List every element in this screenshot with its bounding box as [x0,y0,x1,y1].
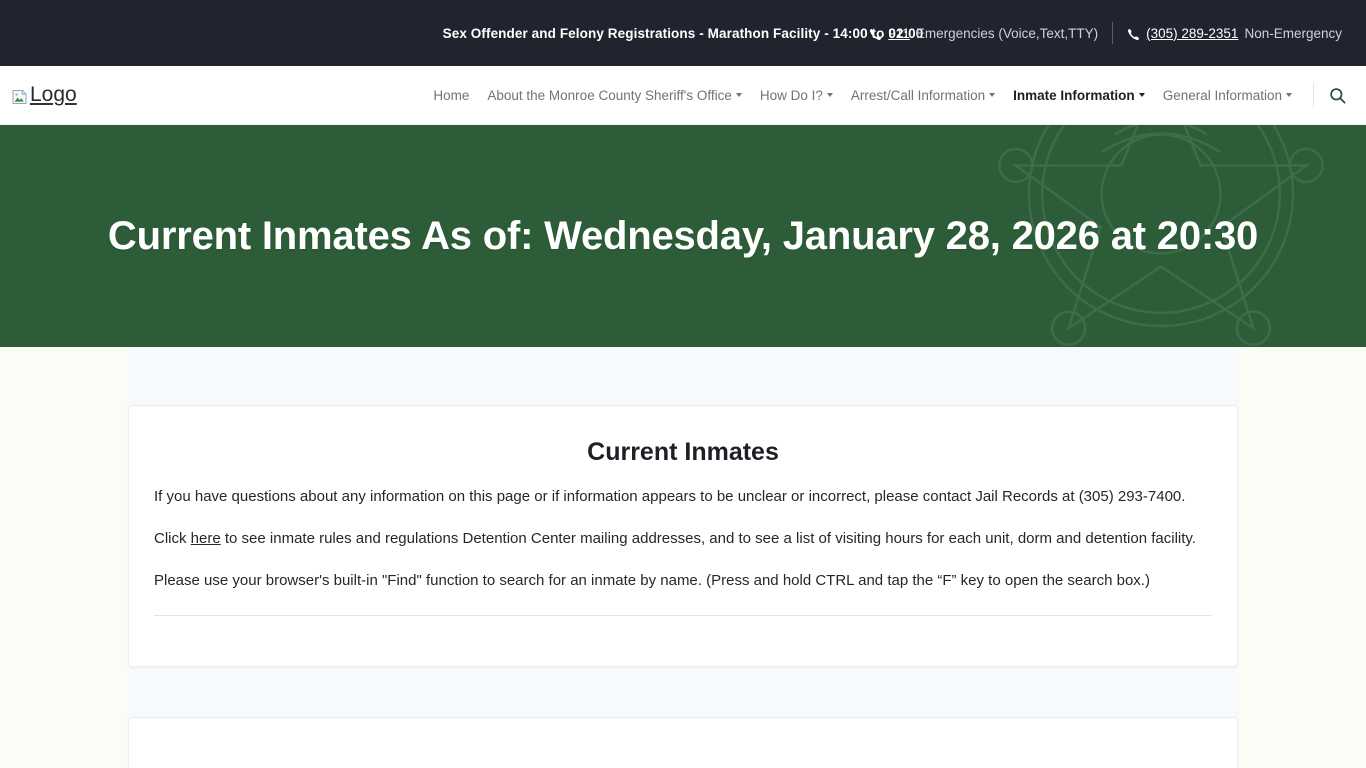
chevron-down-icon [1139,93,1145,97]
page-title: Current Inmates As of: Wednesday, Januar… [68,214,1298,259]
nav-label: Inmate Information [1013,88,1135,103]
inmate-roster-card [128,717,1238,768]
broken-image-icon [12,89,28,105]
nav-item-about[interactable]: About the Monroe County Sheriff's Office [478,82,750,109]
main-navigation: Logo Home About the Monroe County Sherif… [0,66,1366,125]
page-hero: Current Inmates As of: Wednesday, Januar… [0,125,1366,347]
search-icon[interactable] [1324,82,1350,108]
emergency-phone-group[interactable]: 911 Emergencies (Voice,Text,TTY) [869,26,1098,41]
info-paragraph-find: Please use your browser's built-in "Find… [154,569,1212,593]
nav-item-general-information[interactable]: General Information [1154,82,1301,109]
nav-label: Arrest/Call Information [851,88,985,103]
nonemergency-phone-group[interactable]: (305) 289-2351 Non-Emergency [1127,26,1342,41]
nav-item-arrest-call-information[interactable]: Arrest/Call Information [842,82,1004,109]
rules-text-before: Click [154,530,191,547]
nav-item-how-do-i[interactable]: How Do I? [751,82,842,109]
page-body: Current Inmates If you have questions ab… [0,347,1366,768]
nav-divider [1313,83,1314,107]
nav-label: General Information [1163,88,1282,103]
rules-text-after: to see inmate rules and regulations Dete… [221,530,1196,547]
info-paragraph-rules: Click here to see inmate rules and regul… [154,527,1212,551]
emergency-phone-link[interactable]: 911 [888,26,910,41]
card-divider [154,615,1212,616]
inmate-rules-link[interactable]: here [191,530,221,547]
search-glass-icon [1328,86,1347,105]
chevron-down-icon [1286,93,1292,97]
nonemergency-phone-label: Non-Emergency [1244,26,1342,41]
nonemergency-phone-link[interactable]: (305) 289-2351 [1146,26,1238,41]
content-container: Current Inmates If you have questions ab… [128,347,1238,768]
phone-icon [1127,28,1140,41]
card-heading: Current Inmates [154,438,1212,467]
emergency-contacts: 911 Emergencies (Voice,Text,TTY) (305) 2… [869,22,1342,44]
phone-icon [869,28,882,41]
emergency-phone-label: Emergencies (Voice,Text,TTY) [916,26,1098,41]
site-logo[interactable]: Logo [12,83,77,107]
logo-alt-text: Logo [30,83,77,107]
chevron-down-icon [989,93,995,97]
chevron-down-icon [736,93,742,97]
chevron-down-icon [827,93,833,97]
info-paragraph-contact: If you have questions about any informat… [154,485,1212,509]
nav-label: About the Monroe County Sheriff's Office [487,88,731,103]
nav-item-inmate-information[interactable]: Inmate Information [1004,82,1154,109]
topbar-divider [1112,22,1113,44]
nav-label: How Do I? [760,88,823,103]
nav-label: Home [433,88,469,103]
current-inmates-info-card: Current Inmates If you have questions ab… [128,405,1238,667]
emergency-topbar: Sex Offender and Felony Registrations - … [0,0,1366,66]
nav-items: Home About the Monroe County Sheriff's O… [424,82,1350,109]
nav-item-home[interactable]: Home [424,82,478,109]
